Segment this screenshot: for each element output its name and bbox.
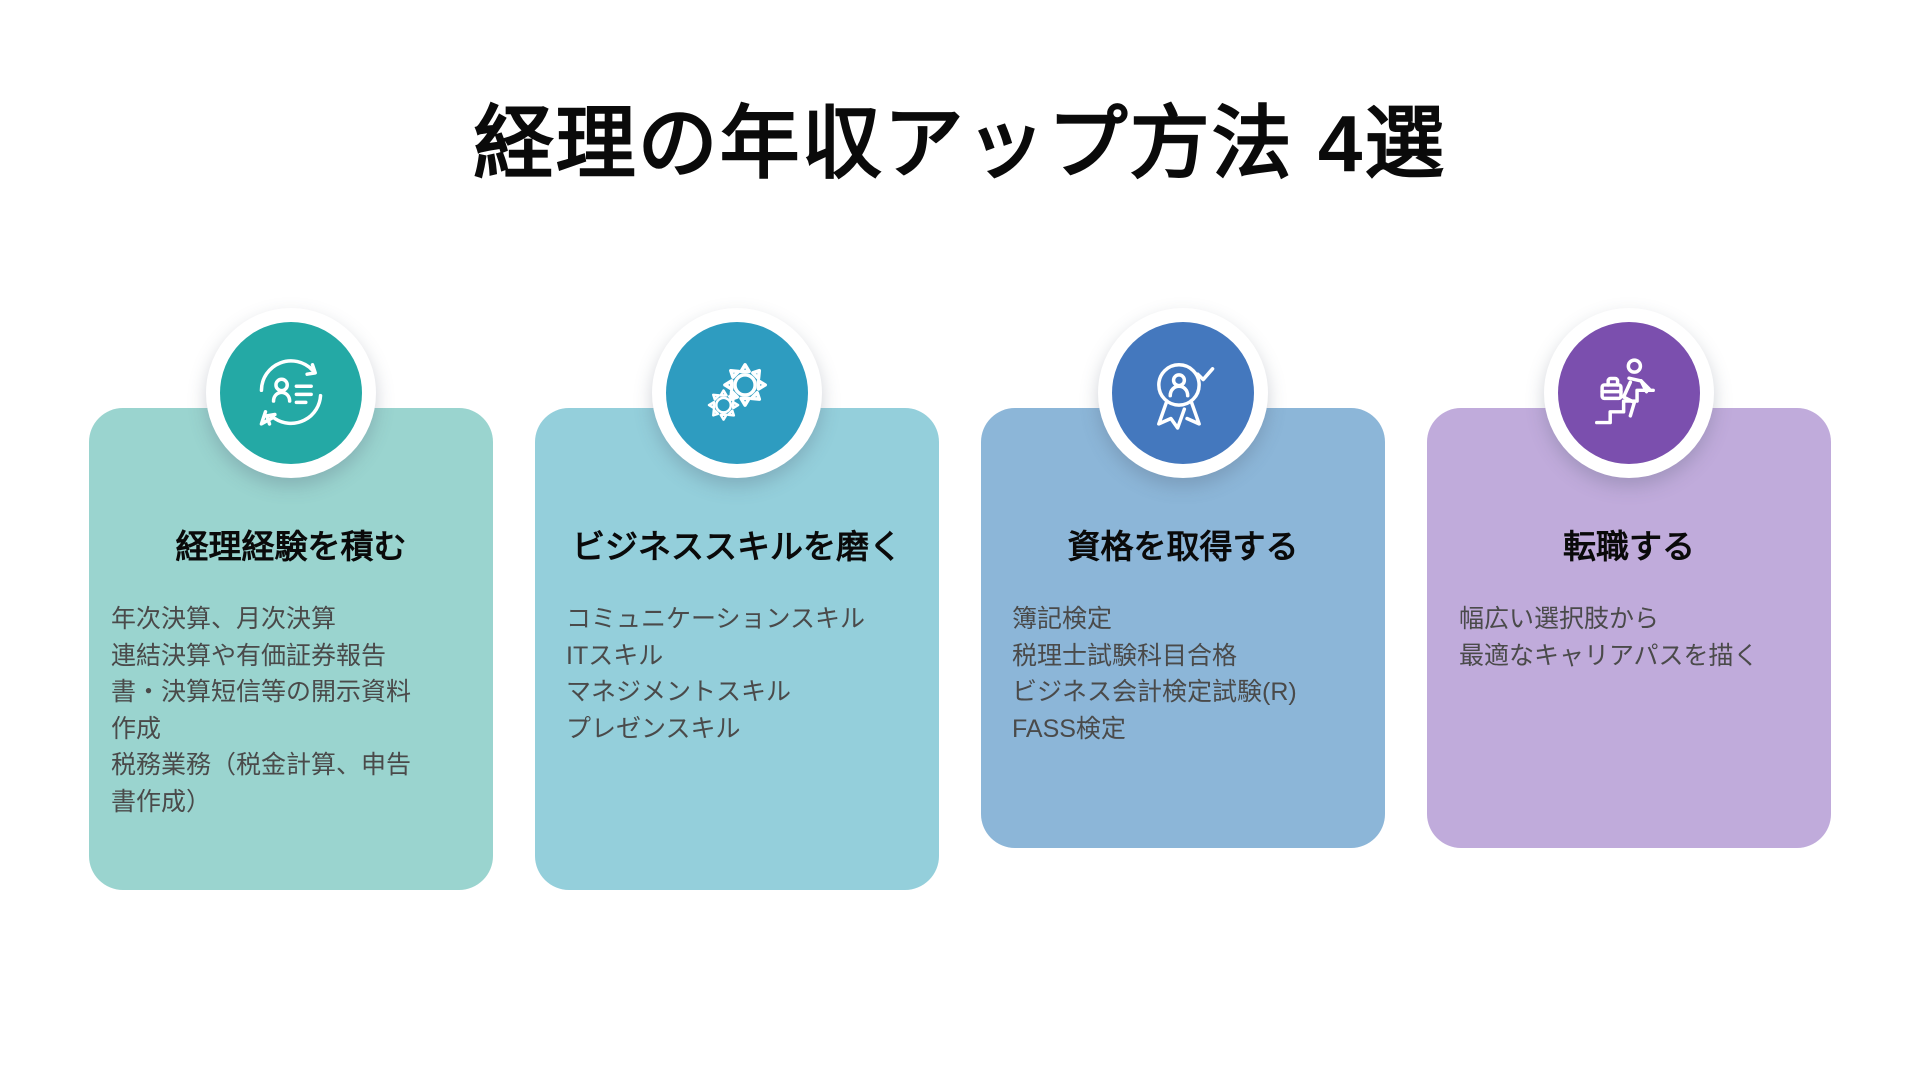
card-job-change: 転職する 幅広い選択肢から 最適なキャリアパスを描く [1427,408,1831,848]
card-4-title: 転職する [1563,526,1695,567]
person-climbing-stairs-briefcase-icon [1558,322,1700,464]
card-3-body: 簿記検定 税理士試験科目合格 ビジネス会計検定試験(R) FASS検定 [994,601,1372,747]
card-1-title: 経理経験を積む [176,526,407,567]
card-accounting-experience: 経理経験を積む 年次決算、月次決算 連結決算や有価証券報告 書・決算短信等の開示… [89,408,493,890]
card-2-body: コミュニケーションスキル ITスキル マネジメントスキル プレゼンスキル [548,601,926,747]
award-badge-person-check-icon [1112,322,1254,464]
card-row: 経理経験を積む 年次決算、月次決算 連結決算や有価証券報告 書・決算短信等の開示… [0,408,1920,890]
card-1-body: 年次決算、月次決算 連結決算や有価証券報告 書・決算短信等の開示資料 作成 税務… [111,601,471,820]
card-2-badge [652,308,822,478]
infographic-page: 経理の年収アップ方法 4選 [0,0,1920,1080]
card-1-badge [206,308,376,478]
page-title: 経理の年収アップ方法 4選 [0,100,1920,188]
card-4-badge [1544,308,1714,478]
card-certifications: 資格を取得する 簿記検定 税理士試験科目合格 ビジネス会計検定試験(R) FAS… [981,408,1385,848]
card-3-badge [1098,308,1268,478]
card-4-body: 幅広い選択肢から 最適なキャリアパスを描く [1439,601,1819,674]
card-3-title: 資格を取得する [1068,526,1299,567]
chat-profile-list-icon [220,322,362,464]
gears-icon [666,322,808,464]
card-business-skills: ビジネススキルを磨く コミュニケーションスキル ITスキル マネジメントスキル … [535,408,939,890]
card-2-title: ビジネススキルを磨く [572,526,902,567]
